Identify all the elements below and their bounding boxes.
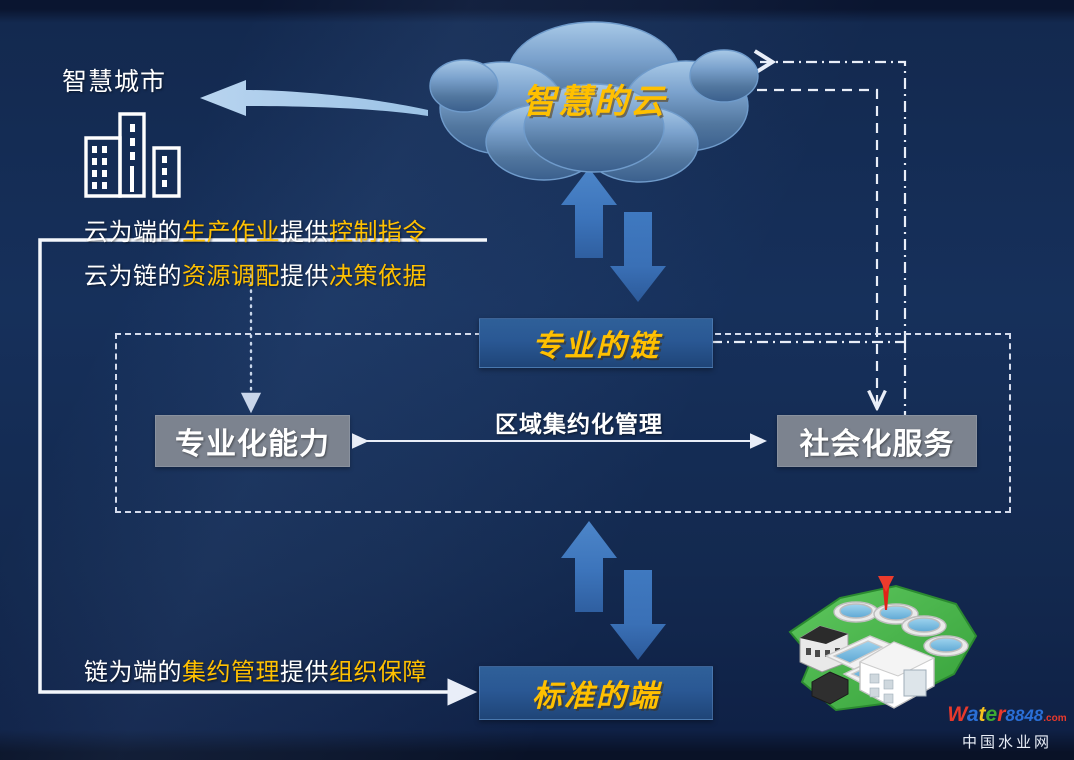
watermark-domain: .com — [1043, 713, 1066, 724]
arrow-cloud-chain-down-icon — [610, 212, 666, 302]
box-standard-edge[interactable]: 标准的端 — [479, 666, 713, 720]
city-label: 智慧城市 — [62, 62, 166, 98]
stmt3-highlight-2: 组织保障 — [329, 659, 427, 686]
label-regional-intensive-management: 区域集约化管理 — [495, 405, 663, 439]
stmt2-prefix: 云为链的 — [84, 263, 182, 290]
watermark: Water8848.com 中国水业网 — [944, 704, 1070, 752]
stmt1-mid: 提供 — [280, 219, 329, 246]
stmt3-prefix: 链为端的 — [84, 659, 182, 686]
statement-chain-to-edge: 链为端的集约管理提供组织保障 — [84, 652, 427, 687]
city-buildings-icon — [82, 100, 187, 200]
statement-cloud-to-chain: 云为链的资源调配提供决策依据 — [84, 256, 427, 291]
box-socialized-service-label: 社会化服务 — [800, 419, 955, 463]
watermark-logo-text: Water8848.com — [944, 704, 1070, 729]
stmt2-mid: 提供 — [280, 263, 329, 290]
box-socialized-service[interactable]: 社会化服务 — [777, 415, 977, 467]
stmt3-mid: 提供 — [280, 659, 329, 686]
stmt1-highlight-1: 生产作业 — [182, 219, 280, 246]
stmt3-highlight-1: 集约管理 — [182, 659, 280, 686]
diagram-canvas: 智慧的云 智慧城市 — [0, 0, 1074, 760]
stmt1-prefix: 云为端的 — [84, 219, 182, 246]
watermark-number: 8848 — [1005, 706, 1043, 725]
watermark-letter-a: a — [967, 703, 979, 726]
box-standard-edge-label: 标准的端 — [532, 671, 660, 715]
water-treatment-plant-illustration — [778, 570, 988, 720]
arrow-chain-edge-down-icon — [610, 570, 666, 660]
watermark-letter-t: t — [979, 703, 986, 726]
stmt2-highlight-1: 资源调配 — [182, 263, 280, 290]
watermark-letter-w: W — [947, 703, 966, 726]
cloud-label: 智慧的云 — [424, 74, 764, 123]
watermark-subtitle: 中国水业网 — [944, 731, 1070, 752]
statement-cloud-to-edge: 云为端的生产作业提供控制指令 — [84, 212, 427, 247]
arrow-cloud-to-city-icon — [200, 80, 428, 116]
stmt2-highlight-2: 决策依据 — [329, 263, 427, 290]
box-professional-capability-label: 专业化能力 — [175, 419, 330, 463]
cloud-shape: 智慧的云 — [424, 16, 764, 201]
stmt1-highlight-2: 控制指令 — [329, 219, 427, 246]
box-professional-chain[interactable]: 专业的链 — [479, 318, 713, 368]
watermark-letter-e: e — [986, 703, 998, 726]
arrow-chain-edge-up-icon — [561, 521, 617, 612]
box-professional-capability[interactable]: 专业化能力 — [155, 415, 350, 467]
box-professional-chain-label: 专业的链 — [532, 321, 660, 365]
